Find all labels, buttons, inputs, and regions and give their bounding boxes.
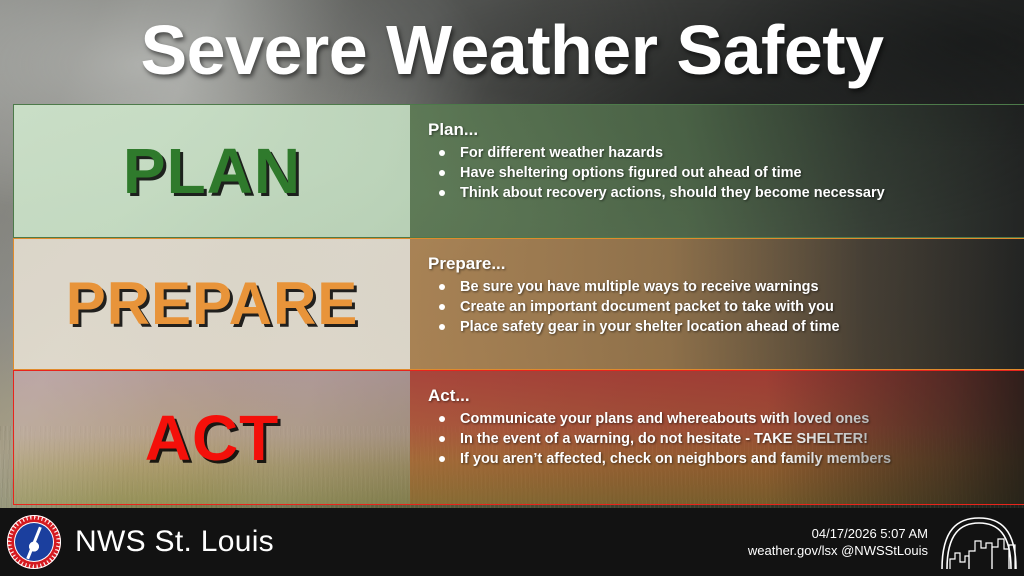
plan-detail-panel: Plan... For different weather hazards Ha… [410,104,1024,238]
page-title: Severe Weather Safety [0,2,1024,98]
footer-bar: NWS St. Louis 04/17/2026 5:07 AM weather… [0,508,1024,576]
list-item: Think about recovery actions, should the… [428,183,1024,203]
timestamp: 04/17/2026 5:07 AM [748,525,928,542]
severe-weather-safety-graphic: Severe Weather Safety PLAN Plan... For d… [0,0,1024,576]
list-item: Communicate your plans and whereabouts w… [428,409,1024,429]
footer-meta: 04/17/2026 5:07 AM weather.gov/lsx @NWSS… [748,525,928,569]
office-name: NWS St. Louis [75,525,274,559]
list-item: Create an important document packet to t… [428,297,1024,317]
act-heading: Act... [428,387,1024,406]
act-bullet-list: Communicate your plans and whereabouts w… [428,409,1024,469]
prepare-word-panel: PREPARE [13,238,410,370]
list-item: Place safety gear in your shelter locati… [428,317,1024,337]
list-item: Be sure you have multiple ways to receiv… [428,277,1024,297]
act-detail-panel: Act... Communicate your plans and wherea… [410,370,1024,505]
plan-word: PLAN [123,139,301,203]
prepare-bullet-list: Be sure you have multiple ways to receiv… [428,277,1024,337]
footer-links: weather.gov/lsx @NWSStLouis [748,542,928,559]
nws-seal-icon [7,515,61,569]
list-item: If you aren’t affected, check on neighbo… [428,449,1024,469]
list-item: In the event of a warning, do not hesita… [428,429,1024,449]
prepare-detail-panel: Prepare... Be sure you have multiple way… [410,238,1024,370]
section-prepare: PREPARE Prepare... Be sure you have mult… [13,238,1024,370]
section-plan: PLAN Plan... For different weather hazar… [13,104,1024,238]
prepare-word: PREPARE [66,274,359,334]
plan-bullet-list: For different weather hazards Have shelt… [428,143,1024,203]
section-act: ACT Act... Communicate your plans and wh… [13,370,1024,505]
list-item: Have sheltering options figured out ahea… [428,163,1024,183]
gateway-arch-icon [936,515,1022,569]
act-word: ACT [145,406,280,470]
footer-right-group: 04/17/2026 5:07 AM weather.gov/lsx @NWSS… [748,515,1024,569]
plan-word-panel: PLAN [13,104,410,238]
list-item: For different weather hazards [428,143,1024,163]
act-word-panel: ACT [13,370,410,505]
prepare-heading: Prepare... [428,255,1024,274]
plan-heading: Plan... [428,121,1024,140]
